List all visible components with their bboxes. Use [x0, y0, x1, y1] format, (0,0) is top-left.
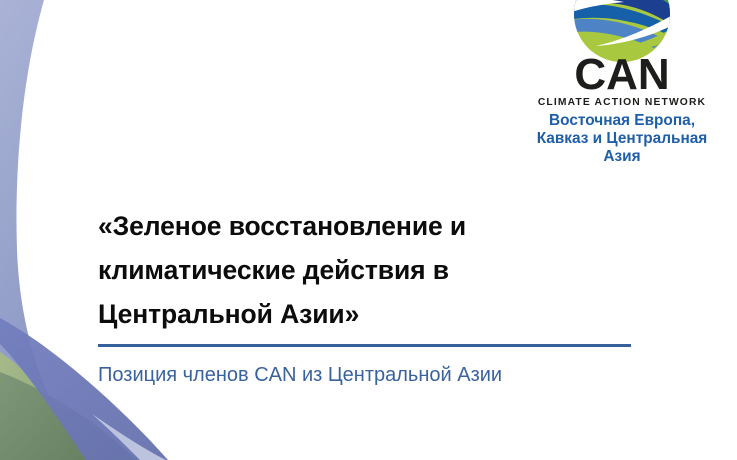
can-acronym: CAN — [522, 56, 722, 94]
swoosh-pale-blue-edge — [92, 414, 166, 460]
swoosh-light-green — [0, 352, 88, 460]
can-region-line-1: Восточная Европа, — [522, 112, 722, 130]
swoosh-periwinkle-left — [0, 0, 86, 460]
can-region-line-2: Кавказ и Центральная — [522, 130, 722, 148]
can-region-line-3: Азия — [522, 148, 722, 166]
can-logo: CAN CLIMATE ACTION NETWORK Восточная Евр… — [522, 0, 722, 166]
slide-subtitle: Позиция членов CAN из Центральной Азии — [98, 362, 658, 389]
can-tagline: CLIMATE ACTION NETWORK — [522, 96, 722, 109]
slide-title: «Зеленое восстановление и климатические … — [98, 204, 578, 336]
swoosh-slate-blue — [0, 318, 168, 460]
slide-canvas: CAN CLIMATE ACTION NETWORK Восточная Евр… — [0, 0, 737, 460]
can-region-name: Восточная Европа, Кавказ и Центральная А… — [522, 112, 722, 166]
title-divider — [98, 344, 631, 347]
